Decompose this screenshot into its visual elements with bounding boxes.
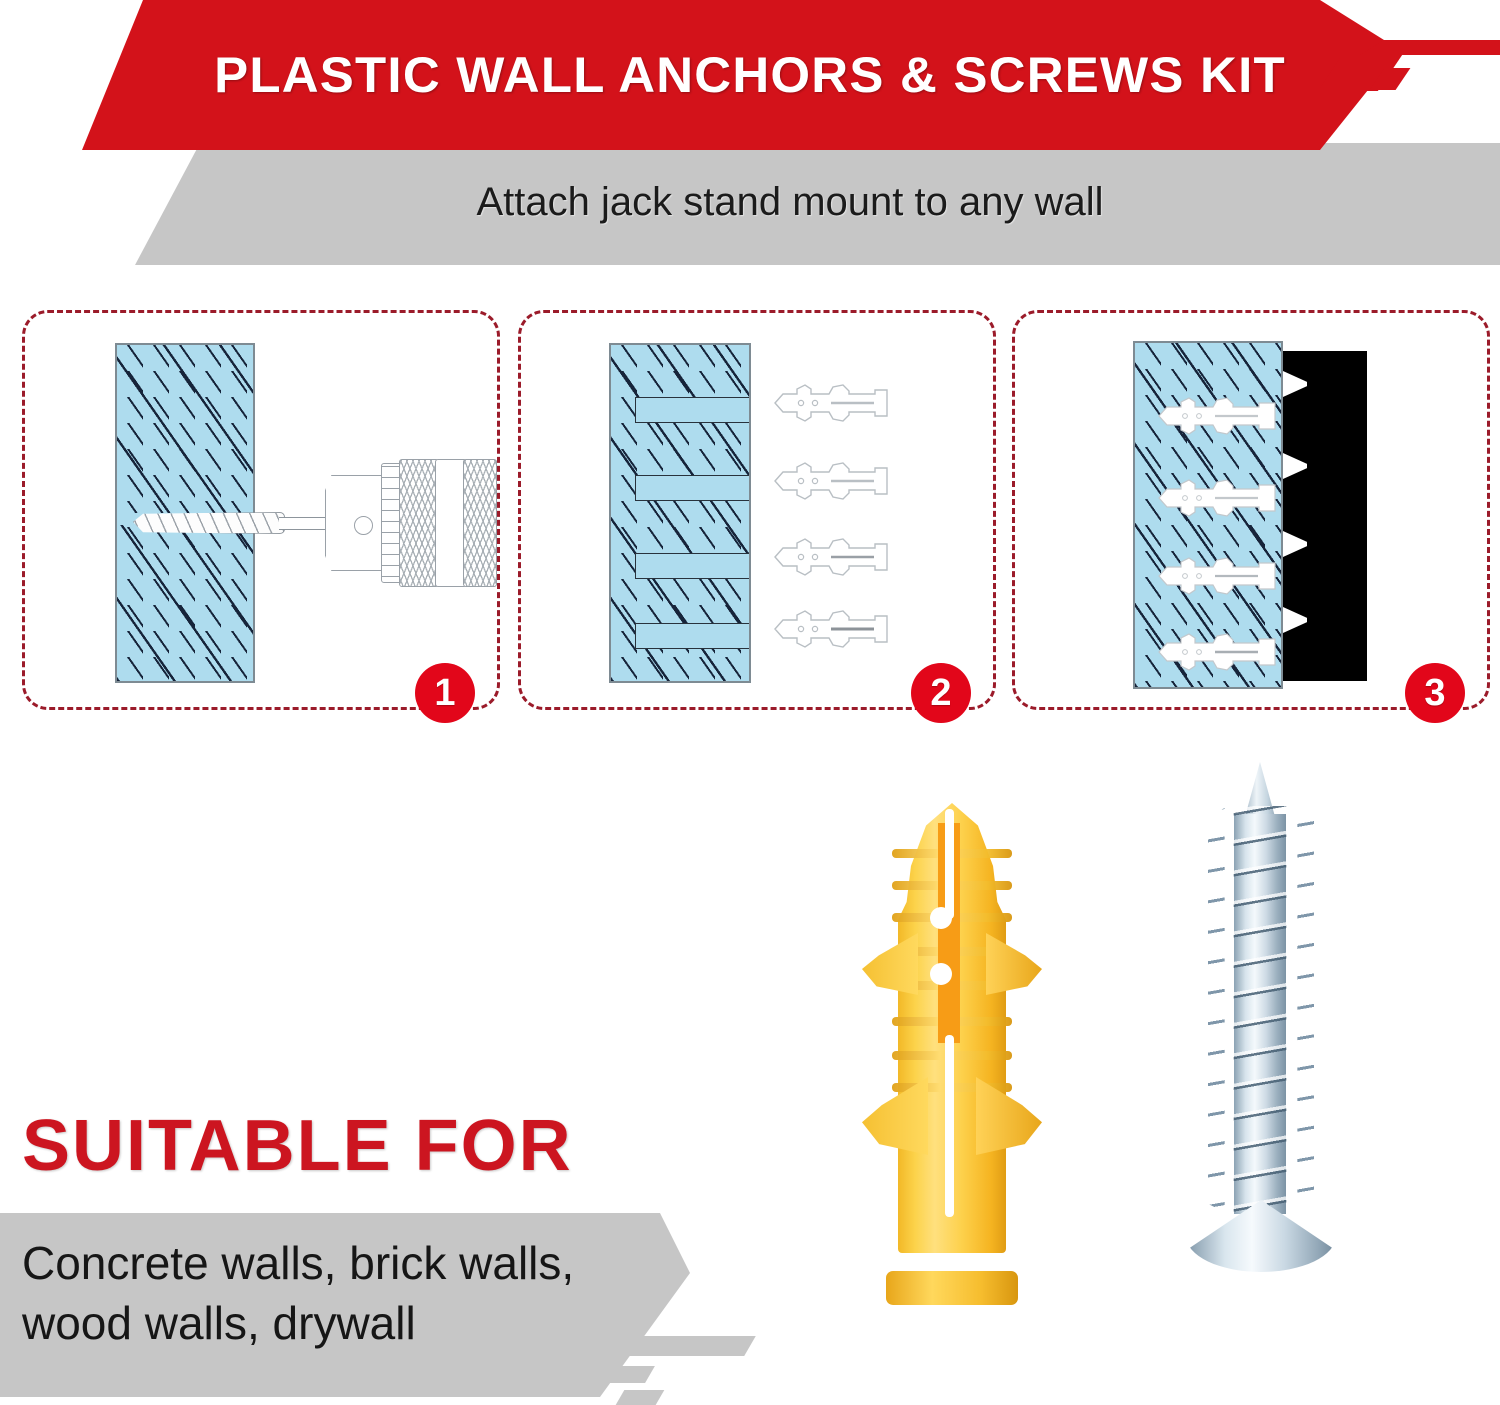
header-accent-stripe-1 [1360,40,1500,55]
mounting-bracket-icon [1283,351,1367,681]
suitable-accent-stripe-3 [616,1390,665,1405]
wall-cross-section-icon [609,343,751,683]
step-badge-1: 1 [415,663,475,723]
chuck-band-1 [399,459,439,587]
anchor-outline-icon [771,535,899,579]
page-title: PLASTIC WALL ANCHORS & SCREWS KIT [143,0,1357,150]
drill-chuck-icon [325,451,505,593]
page-subtitle: Attach jack stand mount to any wall [200,150,1380,255]
step-badge-2: 2 [911,663,971,723]
suitable-for-text: Concrete walls, brick walls, wood walls,… [22,1233,662,1353]
wall-cross-section-icon [1133,341,1283,689]
step-badge-3: 3 [1405,663,1465,723]
anchor-hole [930,907,952,929]
drilled-hole [635,553,751,579]
anchor-outline-icon [771,381,899,425]
anchor-hole [930,963,952,985]
header-banner: PLASTIC WALL ANCHORS & SCREWS KIT Attach… [0,0,1500,265]
suitable-line-1: Concrete walls, brick walls, [22,1233,662,1293]
drilled-hole [635,475,751,501]
anchor-installed-icon [1155,555,1283,597]
drilled-hole [635,623,751,649]
anchor-installed-icon [1155,395,1283,437]
drilled-hole [635,397,751,423]
bracket-foot [1283,648,1355,681]
step-panel-2: 2 [518,310,996,710]
suitable-for-section: SUITABLE FOR Concrete walls, brick walls… [0,1090,1500,1397]
suitable-accent-stripe-2 [573,1366,655,1383]
anchor-wing-right [986,933,1042,995]
drill-flute [133,512,285,534]
anchor-outline-icon [771,607,899,651]
drill-bit-icon [133,509,343,535]
chuck-band-3 [463,459,497,587]
installation-steps: 1 2 [0,300,1500,720]
anchor-outline-icon [771,459,899,503]
anchor-center-slot [945,809,954,919]
anchor-installed-icon [1155,631,1283,673]
anchor-installed-icon [1155,477,1283,519]
suitable-for-title: SUITABLE FOR [22,1105,573,1187]
chuck-nose [325,475,389,571]
step-panel-1: 1 [22,310,500,710]
suitable-accent-stripe-1 [594,1336,756,1356]
step-panel-3: 3 [1012,310,1490,710]
suitable-line-2: wood walls, drywall [22,1293,662,1353]
anchor-wing-left [862,933,918,995]
